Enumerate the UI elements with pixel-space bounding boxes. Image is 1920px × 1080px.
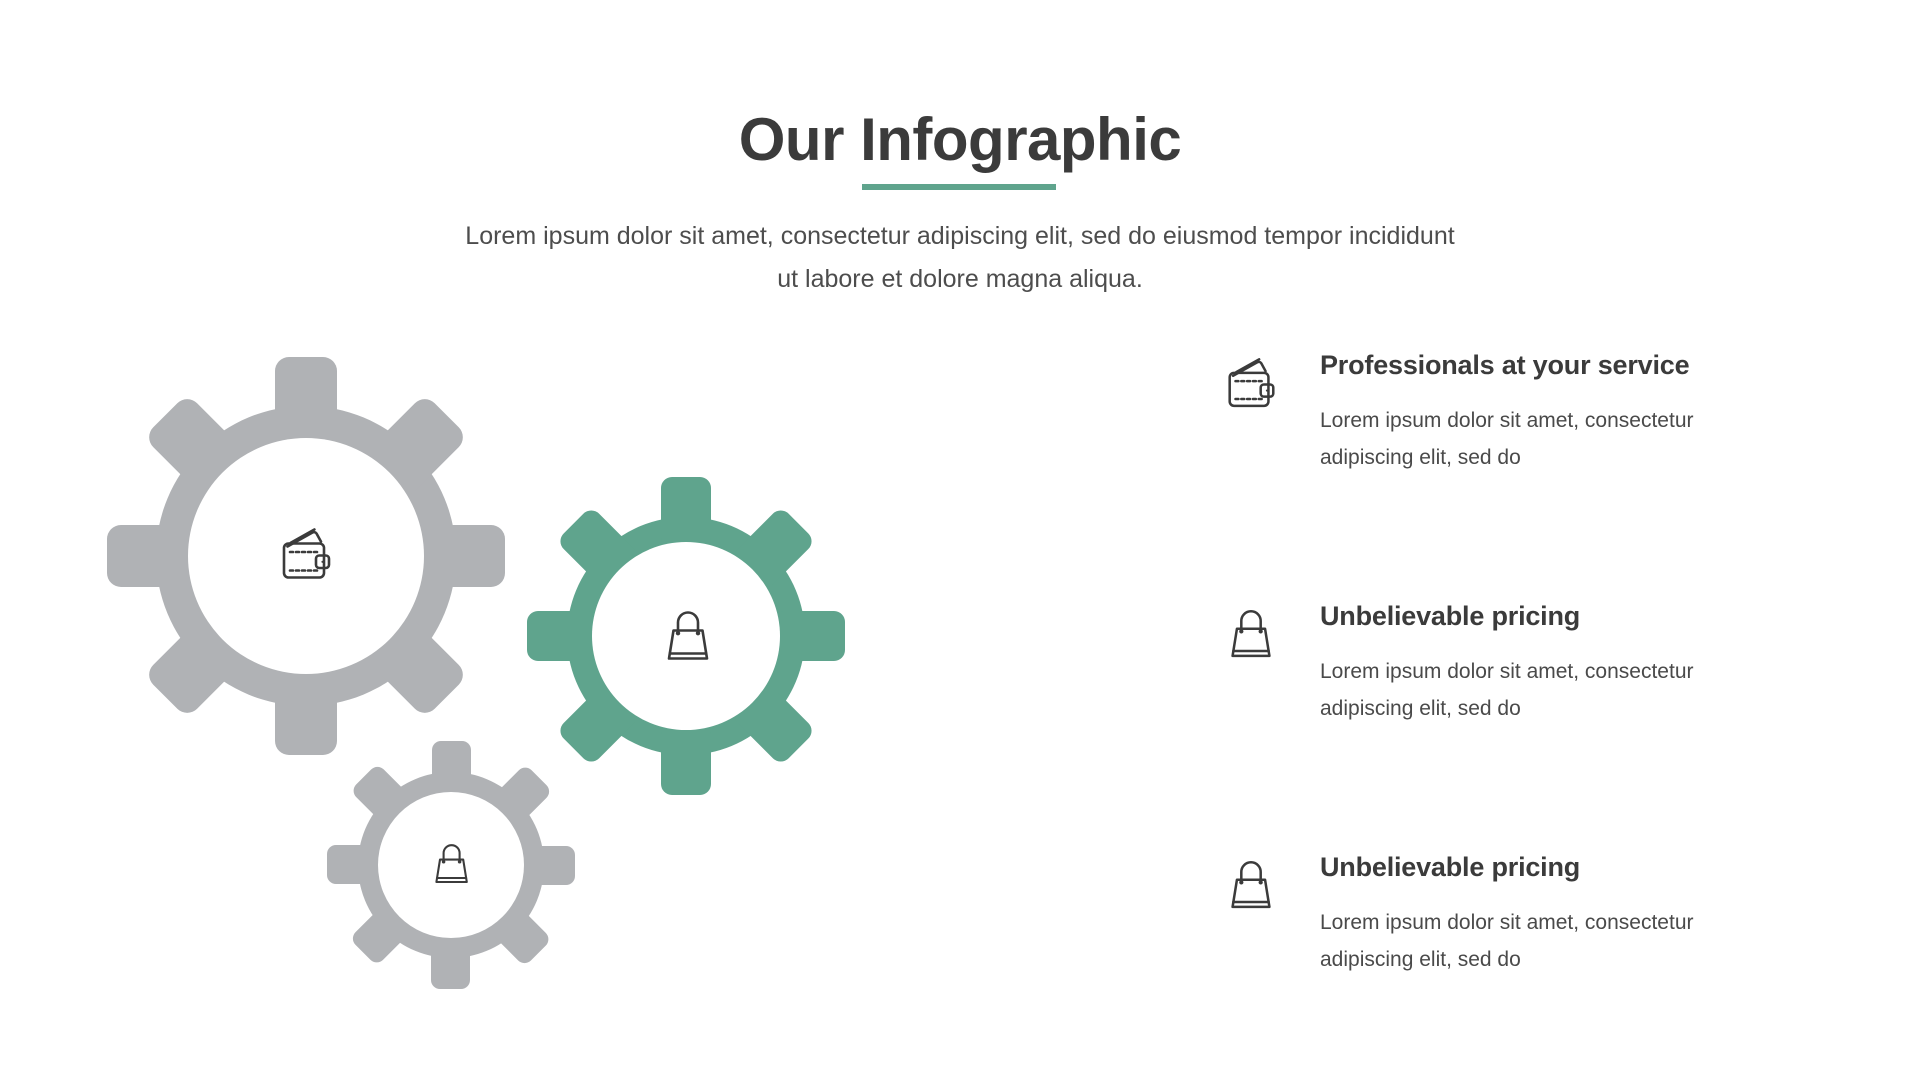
page-title-wrap: Our Infographic: [0, 110, 1920, 170]
infographic-slide: Our Infographic Lorem ipsum dolor sit am…: [0, 0, 1920, 1080]
gear-green: [527, 477, 845, 795]
feature-list: Professionals at your service Lorem ipsu…: [1220, 350, 1840, 999]
feature-item-3: Unbelievable pricing Lorem ipsum dolor s…: [1220, 852, 1840, 978]
gear-hub: [188, 438, 424, 674]
feature-title: Unbelievable pricing: [1320, 852, 1840, 883]
shopping-bag-icon: [1220, 605, 1282, 667]
subtitle: Lorem ipsum dolor sit amet, consectetur …: [410, 215, 1510, 301]
gear-large-gray: [107, 357, 505, 755]
shopping-bag-icon: [1220, 856, 1282, 918]
feature-description: Lorem ipsum dolor sit amet, consectetur …: [1320, 653, 1710, 727]
feature-item-1: Professionals at your service Lorem ipsu…: [1220, 350, 1840, 476]
feature-title: Professionals at your service: [1320, 350, 1840, 381]
subtitle-line-2: ut labore et dolore magna aliqua.: [777, 265, 1143, 293]
gear-hub: [378, 792, 524, 938]
feature-description: Lorem ipsum dolor sit amet, consectetur …: [1320, 402, 1710, 476]
gear-small-gray: [327, 741, 575, 989]
gear-hub: [592, 542, 780, 730]
feature-title: Unbelievable pricing: [1320, 601, 1840, 632]
gear-cluster: [60, 320, 900, 1040]
page-title: Our Infographic: [739, 110, 1182, 170]
title-accent-underline: [862, 184, 1056, 190]
feature-description: Lorem ipsum dolor sit amet, consectetur …: [1320, 904, 1710, 978]
feature-item-2: Unbelievable pricing Lorem ipsum dolor s…: [1220, 601, 1840, 727]
subtitle-line-1: Lorem ipsum dolor sit amet, consectetur …: [465, 222, 1454, 250]
wallet-icon: [1220, 354, 1282, 416]
